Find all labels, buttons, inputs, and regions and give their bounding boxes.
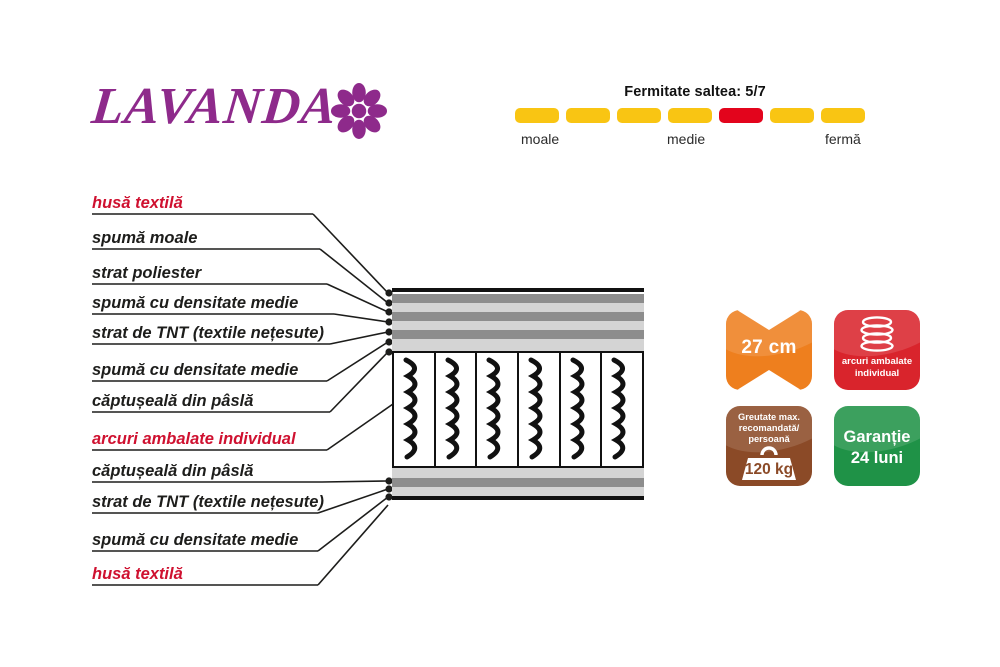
spring-coil-icon: [610, 357, 634, 462]
layer-band-dark-2: [392, 312, 644, 321]
spring-coil-icon: [854, 316, 900, 354]
spring-coil-icon: [444, 357, 468, 462]
feature-badges: 27 cm arcuri ambalate individual: [726, 310, 926, 492]
spring-cell: [602, 353, 642, 466]
firmness-label-soft: moale: [521, 131, 559, 147]
spring-coil-icon: [485, 357, 509, 462]
layer-band-cover-top: [392, 288, 644, 292]
badge-weight-caption: Greutate max. recomandată/ persoană: [726, 406, 812, 445]
badge-max-weight: Greutate max. recomandată/ persoană 120 …: [726, 406, 812, 486]
brand-name: LAVANDA: [89, 78, 340, 136]
spring-coil-icon: [402, 357, 426, 462]
firmness-scale-labels: moale medie fermă: [515, 131, 875, 151]
layer-band-light-2: [392, 321, 644, 330]
badge-height: 27 cm: [726, 310, 812, 390]
firmness-title: Fermitate saltea: 5/7: [505, 84, 885, 100]
layer-band-light-1: [392, 303, 644, 312]
chevron-up-icon: [737, 370, 801, 390]
firmness-segment-3: [617, 108, 661, 123]
badge-weight-caption-line2: recomandată/: [739, 423, 799, 433]
brand-logo: LAVANDA: [92, 78, 422, 140]
layer-label-husa-textila-top: husă textilă: [92, 193, 332, 223]
badge-warranty-line2: 24 luni: [834, 449, 920, 468]
layer-band-dark-4: [392, 478, 644, 487]
layer-band-light-3: [392, 339, 644, 351]
layer-label-spuma-densitate-medie-2: spumă cu densitate medie: [92, 360, 332, 390]
firmness-label-medium: medie: [667, 131, 705, 147]
firmness-segment-4: [668, 108, 712, 123]
spring-cell: [477, 353, 519, 466]
layer-label-husa-textila-bottom: husă textilă: [92, 564, 332, 594]
product-spec-sheet: LAVANDA Fermitate saltea: 5/7: [0, 0, 1000, 667]
layer-label-spuma-moale: spumă moale: [92, 228, 332, 258]
badge-warranty: Garanție 24 luni: [834, 406, 920, 486]
spring-coil-icon: [569, 357, 593, 462]
mattress-cross-section: [392, 288, 644, 496]
chevron-down-icon: [737, 310, 801, 330]
layer-band-cover-bottom: [392, 496, 644, 500]
spring-core: [392, 351, 644, 468]
layer-band-light-4: [392, 468, 644, 478]
layer-label-strat-poliester: strat poliester: [92, 263, 332, 293]
layer-band-dark-3: [392, 330, 644, 339]
firmness-segment-5-active: [719, 108, 763, 123]
layer-label-arcuri-ambalate-individual: arcuri ambalate individual: [92, 429, 332, 459]
badge-weight-caption-line1: Greutate max.: [738, 412, 800, 422]
flower-icon: [330, 82, 388, 140]
layer-label-strat-tnt-1: strat de TNT (textile nețesute): [92, 323, 332, 353]
firmness-segment-7: [821, 108, 865, 123]
layer-label-spuma-densitate-medie-3: spumă cu densitate medie: [92, 530, 332, 560]
layer-label-spuma-densitate-medie-1: spumă cu densitate medie: [92, 293, 332, 323]
badge-springs-caption-line1: arcuri ambalate: [842, 356, 912, 367]
badge-springs-caption-line2: individual: [855, 368, 899, 379]
badge-warranty-line1: Garanție: [834, 428, 920, 447]
spring-cell: [561, 353, 603, 466]
badge-height-value: 27 cm: [726, 337, 812, 359]
spring-cell: [436, 353, 478, 466]
spring-cell: [394, 353, 436, 466]
layer-label-strat-tnt-2: strat de TNT (textile nețesute): [92, 492, 332, 522]
layer-label-column: husă textilă spumă moale strat poliester…: [0, 180, 340, 600]
firmness-segments: [515, 108, 865, 123]
spring-cell: [519, 353, 561, 466]
badge-weight-value: 120 kg: [726, 461, 812, 479]
layer-label-captuseala-pasla-2: căptușeală din pâslă: [92, 461, 332, 491]
badge-pocket-springs: arcuri ambalate individual: [834, 310, 920, 390]
spring-coil-icon: [527, 357, 551, 462]
badge-springs-caption: arcuri ambalate individual: [834, 356, 920, 379]
firmness-segment-6: [770, 108, 814, 123]
layer-band-light-5: [392, 487, 644, 496]
badge-weight-caption-line3: persoană: [748, 434, 789, 444]
layer-label-captuseala-pasla-1: căptușeală din pâslă: [92, 391, 332, 421]
layer-band-dark-1: [392, 294, 644, 303]
firmness-segment-1: [515, 108, 559, 123]
firmness-segment-2: [566, 108, 610, 123]
firmness-scale-widget: Fermitate saltea: 5/7 moale medie fermă: [505, 84, 885, 154]
firmness-label-firm: fermă: [825, 131, 861, 147]
